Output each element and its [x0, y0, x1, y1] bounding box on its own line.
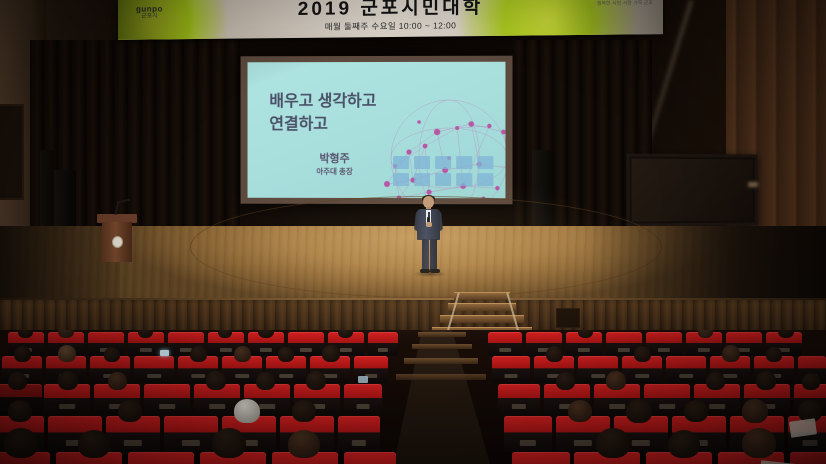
speaker-shoe-left [420, 269, 430, 273]
audience-head [684, 400, 708, 422]
slide-headline-line2: 연결하고 [269, 113, 376, 136]
seat [498, 384, 540, 415]
audience-head [58, 371, 78, 390]
audience-head [568, 400, 592, 422]
audience-head [58, 345, 76, 362]
speaker-person [411, 196, 447, 274]
stage-vent-grille [556, 308, 580, 328]
audience-seating-area [0, 330, 826, 464]
aisle-step [412, 344, 472, 349]
audience-head [742, 428, 776, 458]
audience-head [668, 430, 700, 458]
podium [97, 214, 137, 262]
seat [512, 452, 570, 464]
speaker-leg-right [430, 239, 437, 270]
audience-head [292, 400, 316, 422]
audience-head [556, 372, 575, 390]
projection-screen: 배우고 생각하고 연결하고 박형주 아주대 총장 [241, 56, 513, 205]
audience-head [546, 346, 563, 362]
seat [646, 332, 682, 356]
speaker-leg-left [422, 239, 429, 270]
seat [666, 356, 706, 383]
audience-head [306, 371, 326, 390]
stage-step [448, 303, 516, 311]
audience-phone-screen [160, 350, 169, 356]
audience-head [634, 346, 651, 362]
seat [344, 452, 396, 464]
speaker-hands [426, 222, 432, 227]
audience-head [596, 428, 630, 458]
audience-head [78, 430, 110, 458]
slide-headline-line1: 배우고 생각하고 [269, 90, 376, 113]
seat [134, 356, 174, 383]
audience-head [802, 373, 820, 390]
slide-headline: 배우고 생각하고 연결하고 [269, 90, 376, 136]
stage-step [454, 292, 510, 300]
audience-head [104, 347, 120, 362]
seat [164, 416, 218, 452]
audience-head [322, 345, 340, 362]
audience-head [278, 347, 294, 362]
presentation-slide: 배우고 생각하고 연결하고 박형주 아주대 총장 [248, 62, 506, 199]
seat [128, 452, 194, 464]
audience-head [756, 371, 776, 390]
audience-head [626, 399, 652, 423]
audience-head [766, 347, 782, 362]
audience-head [108, 372, 127, 390]
podium-emblem [112, 236, 123, 248]
audience-head [606, 371, 626, 390]
audience-head [722, 345, 740, 362]
audience-head [14, 346, 31, 362]
seat [790, 452, 826, 464]
aisle-step [418, 332, 466, 337]
audience-head [742, 399, 768, 423]
monitor-screen [632, 159, 753, 222]
speaker-shoe-right [430, 269, 440, 273]
audience-head [118, 400, 142, 422]
audience-head-grey-hair [234, 399, 260, 423]
seat [344, 384, 382, 415]
audience-head [8, 372, 27, 390]
audience-head [212, 428, 246, 458]
audience-head [706, 372, 725, 390]
audience-head [206, 371, 226, 390]
audience-head [288, 430, 320, 458]
audience-head [8, 400, 32, 422]
seat [504, 416, 552, 452]
event-banner: gunpo 군포시 2019 군포시민대학 매월 둘째주 수요일 10:00 ~… [118, 0, 663, 40]
slide-bar-graphic [393, 156, 501, 196]
audience-head [234, 346, 251, 362]
audience-head [190, 346, 207, 362]
wall-monitor [626, 153, 757, 226]
audience-head [256, 372, 275, 390]
seat [368, 332, 398, 356]
seat [492, 356, 530, 383]
aisle-step [396, 374, 486, 380]
center-aisle [392, 330, 492, 464]
audience-head [4, 428, 38, 458]
audience-phone [358, 376, 368, 383]
banner-side-note: 행복한 시민 사랑 가득 군포 [597, 0, 653, 8]
seat [488, 332, 522, 356]
auditorium-photo: gunpo 군포시 2019 군포시민대학 매월 둘째주 수요일 10:00 ~… [0, 0, 826, 464]
seat [144, 384, 190, 415]
left-wall-picture-frame [0, 104, 24, 200]
monitor-glint [748, 182, 758, 187]
aisle-step [404, 358, 478, 364]
seat [338, 416, 380, 452]
